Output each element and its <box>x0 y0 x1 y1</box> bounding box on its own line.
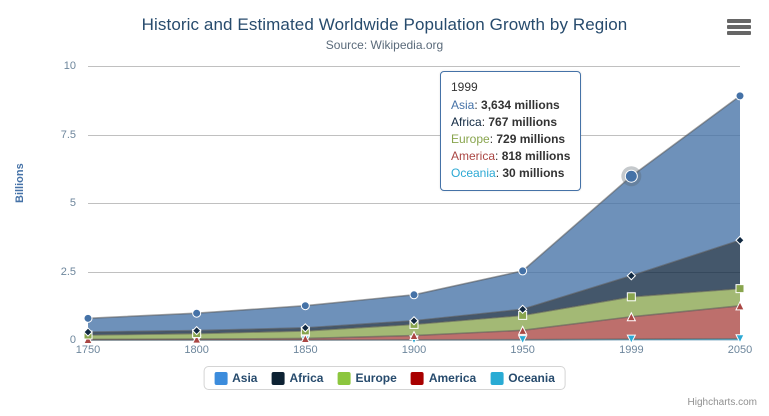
point-marker-europe[interactable] <box>736 285 744 293</box>
point-marker-asia[interactable] <box>410 291 418 299</box>
x-axis-tick-label: 1850 <box>293 344 317 356</box>
x-axis-tick-label: 1950 <box>510 344 534 356</box>
chart-subtitle: Source: Wikipedia.org <box>0 38 769 52</box>
legend[interactable]: AsiaAfricaEuropeAmericaOceania <box>203 366 566 390</box>
tooltip-series-name: America <box>451 149 495 163</box>
tooltip-series-value: 3,634 millions <box>481 98 560 112</box>
tooltip-rows: Asia: 3,634 millionsAfrica: 767 millions… <box>451 97 570 182</box>
tooltip-series-value: 729 millions <box>496 132 565 146</box>
legend-swatch-icon <box>411 372 424 385</box>
point-marker-asia[interactable] <box>84 314 92 322</box>
y-axis-tick-label: 10 <box>64 60 76 72</box>
point-marker-asia[interactable] <box>193 309 201 317</box>
x-axis-tick-label: 2050 <box>728 344 752 356</box>
point-marker-asia[interactable] <box>519 267 527 275</box>
x-axis-labels: 1750180018501900195019992050 <box>88 344 740 362</box>
tooltip-row: America: 818 millions <box>451 148 570 165</box>
menu-bar <box>727 25 751 29</box>
tooltip-row: Oceania: 30 millions <box>451 165 570 182</box>
menu-bar <box>727 19 751 23</box>
tooltip-row: Africa: 767 millions <box>451 114 570 131</box>
tooltip-series-name: Europe <box>451 132 490 146</box>
tooltip-row: Asia: 3,634 millions <box>451 97 570 114</box>
legend-item-asia[interactable]: Asia <box>214 371 257 385</box>
legend-label: Africa <box>289 371 323 385</box>
menu-bar <box>727 31 751 35</box>
series-layer <box>88 66 740 340</box>
point-marker-europe[interactable] <box>627 293 635 301</box>
legend-label: Asia <box>232 371 257 385</box>
legend-item-oceania[interactable]: Oceania <box>490 371 555 385</box>
credits-link[interactable]: Highcharts.com <box>688 397 757 408</box>
x-axis-tick-label: 1800 <box>184 344 208 356</box>
legend-swatch-icon <box>490 372 503 385</box>
y-axis-tick-label: 5 <box>70 197 76 209</box>
tooltip-series-value: 767 millions <box>488 115 557 129</box>
legend-label: America <box>429 371 476 385</box>
legend-swatch-icon <box>337 372 350 385</box>
legend-item-america[interactable]: America <box>411 371 476 385</box>
tooltip-series-name: Africa <box>451 115 482 129</box>
point-marker-asia[interactable] <box>301 302 309 310</box>
tooltip-series-value: 818 millions <box>502 149 571 163</box>
legend-swatch-icon <box>214 372 227 385</box>
x-axis-tick-label: 1999 <box>619 344 643 356</box>
legend-label: Oceania <box>508 371 555 385</box>
tooltip-header: 1999 <box>451 79 570 97</box>
highcharts-container: Historic and Estimated Worldwide Populat… <box>0 0 769 416</box>
legend-swatch-icon <box>271 372 284 385</box>
x-axis-tick-label: 1750 <box>76 344 100 356</box>
tooltip-row: Europe: 729 millions <box>451 131 570 148</box>
tooltip-series-name: Oceania <box>451 166 496 180</box>
hamburger-menu-icon[interactable] <box>727 17 751 37</box>
y-axis-tick-label: 2.5 <box>61 266 76 278</box>
y-axis-labels: 02.557.510 <box>0 66 84 340</box>
tooltip-series-value: 30 millions <box>502 166 564 180</box>
legend-label: Europe <box>355 371 396 385</box>
point-marker-asia[interactable] <box>736 92 744 100</box>
y-axis-tick-label: 7.5 <box>61 129 76 141</box>
x-axis-tick-label: 1900 <box>402 344 426 356</box>
legend-item-europe[interactable]: Europe <box>337 371 396 385</box>
legend-item-africa[interactable]: Africa <box>271 371 323 385</box>
tooltip: 1999 Asia: 3,634 millionsAfrica: 767 mil… <box>440 71 581 191</box>
chart-title: Historic and Estimated Worldwide Populat… <box>0 15 769 35</box>
point-marker-asia[interactable] <box>625 170 637 182</box>
plot-area <box>88 66 740 340</box>
tooltip-series-name: Asia <box>451 98 474 112</box>
